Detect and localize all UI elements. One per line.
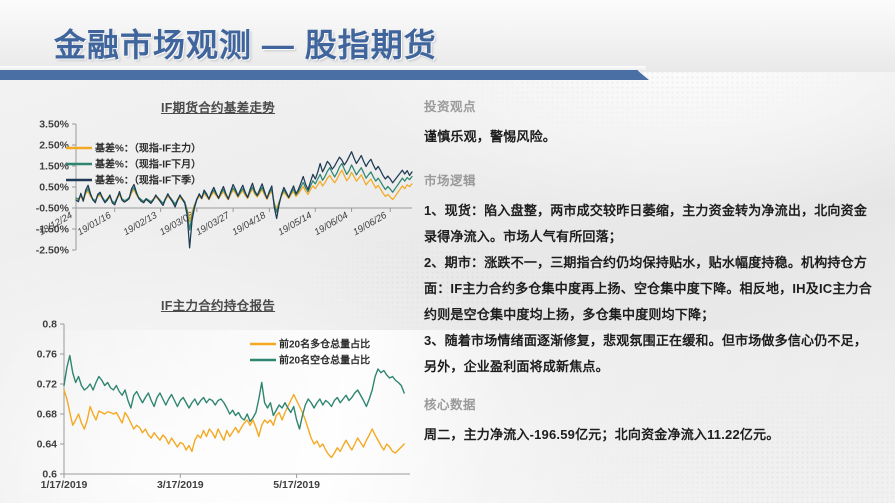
svg-text:3/17/2019: 3/17/2019	[157, 479, 204, 491]
svg-text:0.68: 0.68	[37, 409, 58, 421]
svg-text:19/01/16: 19/01/16	[76, 210, 114, 238]
svg-text:基差%：（现指-IF主力）: 基差%：（现指-IF主力）	[94, 142, 201, 155]
chart-title-basis: IF期货合约基差走势	[18, 94, 418, 116]
svg-text:前20名空仓总量占比: 前20名空仓总量占比	[279, 354, 370, 367]
paragraph: 3、随着市场情绪面逐渐修复，悲观氛围正在缓和。但市场做多信心仍不足，另外，企业盈…	[424, 328, 876, 380]
chart-if-basis-trend: IF期货合约基差走势 3.50%2.50%1.50%0.50%-0.50%-1.…	[18, 94, 418, 290]
chart-canvas-basis: 3.50%2.50%1.50%0.50%-0.50%-1.50%-2.50%18…	[18, 118, 418, 296]
svg-text:0.72: 0.72	[37, 379, 58, 391]
svg-text:0.76: 0.76	[37, 349, 58, 361]
section-core-data: 核心数据 周二，主力净流入-196.59亿元；北向资金净流入11.22亿元。	[424, 394, 876, 448]
chart-if-position-report: IF主力合约持仓报告 0.80.760.720.680.640.61/17/20…	[18, 292, 418, 497]
spacer	[424, 380, 876, 394]
spacer	[424, 150, 876, 170]
svg-text:19/02/13: 19/02/13	[122, 210, 160, 238]
header-accent-rule	[0, 70, 638, 80]
svg-text:19/04/18: 19/04/18	[230, 210, 268, 238]
section-heading-market-logic: 市场逻辑	[424, 170, 876, 189]
section-heading-core-data: 核心数据	[424, 394, 876, 413]
svg-text:0.64: 0.64	[37, 439, 58, 451]
svg-text:19/05/14: 19/05/14	[276, 210, 314, 238]
paragraph: 1、现货：陷入盘整，两市成交较昨日萎缩，主力资金转为净流出，北向资金录得净流入。…	[424, 198, 876, 250]
svg-text:基差%：（现指-IF下季）: 基差%：（现指-IF下季）	[94, 174, 201, 187]
section-body-market-logic: 1、现货：陷入盘整，两市成交较昨日萎缩，主力资金转为净流出，北向资金录得净流入。…	[424, 198, 876, 380]
paragraph: 谨慎乐观，警惕风险。	[424, 124, 876, 150]
svg-text:5/17/2019: 5/17/2019	[273, 479, 320, 491]
chart-title-position: IF主力合约持仓报告	[18, 292, 418, 314]
commentary-panel: 投资观点 谨慎乐观，警惕风险。 市场逻辑 1、现货：陷入盘整，两市成交较昨日萎缩…	[424, 96, 876, 486]
svg-text:2.50%: 2.50%	[39, 140, 69, 152]
svg-text:-2.50%: -2.50%	[36, 245, 70, 257]
svg-text:19/06/04: 19/06/04	[313, 210, 351, 238]
section-market-logic: 市场逻辑 1、现货：陷入盘整，两市成交较昨日萎缩，主力资金转为净流出，北向资金录…	[424, 170, 876, 380]
section-body-core-data: 周二，主力净流入-196.59亿元；北向资金净流入11.22亿元。	[424, 422, 876, 448]
svg-text:19/03/27: 19/03/27	[194, 210, 232, 238]
chart-canvas-position: 0.80.760.720.680.640.61/17/20193/17/2019…	[18, 316, 418, 503]
svg-text:1/17/2019: 1/17/2019	[41, 479, 88, 491]
svg-text:19/06/26: 19/06/26	[351, 210, 389, 238]
svg-text:3.50%: 3.50%	[39, 119, 69, 131]
paragraph: 2、期市：涨跌不一，三期指合约仍均保持贴水，贴水幅度持稳。机构持仓方面：IF主力…	[424, 250, 876, 328]
section-heading-investment-view: 投资观点	[424, 96, 876, 115]
slide-header: 金融市场观测 — 股指期货	[0, 0, 895, 86]
page-title: 金融市场观测 — 股指期货	[54, 20, 437, 66]
slide-canvas: 金融市场观测 — 股指期货 IF期货合约基差走势 3.50%2.50%1.50%…	[0, 0, 895, 503]
paragraph: 周二，主力净流入-196.59亿元；北向资金净流入11.22亿元。	[424, 422, 876, 448]
svg-text:前20名多仓总量占比: 前20名多仓总量占比	[279, 338, 370, 351]
section-investment-view: 投资观点 谨慎乐观，警惕风险。	[424, 96, 876, 150]
svg-text:1.50%: 1.50%	[39, 161, 69, 173]
section-body-investment-view: 谨慎乐观，警惕风险。	[424, 124, 876, 150]
svg-text:0.50%: 0.50%	[39, 182, 69, 194]
svg-text:0.8: 0.8	[42, 319, 57, 331]
svg-text:基差%：（现指-IF下月）: 基差%：（现指-IF下月）	[94, 158, 201, 171]
